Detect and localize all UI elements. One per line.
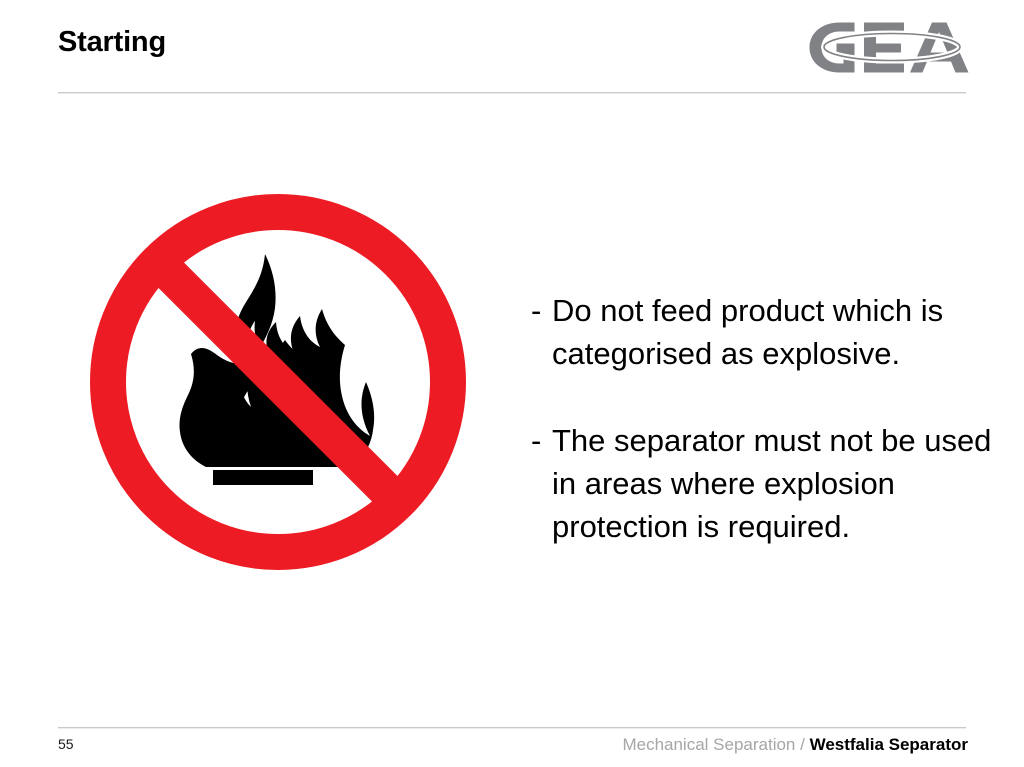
bullet-marker: - (531, 419, 552, 462)
bullet-list: - Do not feed product which is categoris… (531, 289, 1001, 548)
page-number: 55 (58, 736, 74, 752)
no-open-flame-sign-icon (88, 190, 472, 578)
bullet-item: - Do not feed product which is categoris… (531, 289, 1001, 375)
bullet-item: - The separator must not be used in area… (531, 419, 1001, 548)
footer-caption-department: Mechanical Separation (622, 735, 800, 754)
footer-divider (58, 727, 966, 729)
page-title: Starting (58, 26, 166, 59)
footer-caption-separator: / (800, 735, 809, 754)
bullet-text: Do not feed product which is categorised… (552, 289, 1001, 375)
bullet-text: The separator must not be used in areas … (552, 419, 1001, 548)
footer-caption-brand: Westfalia Separator (810, 735, 968, 754)
header-divider (58, 92, 966, 94)
slide: Starting (0, 0, 1024, 767)
footer-caption: Mechanical Separation / Westfalia Separa… (622, 735, 968, 755)
bullet-marker: - (531, 289, 552, 332)
gea-logo (806, 19, 976, 79)
